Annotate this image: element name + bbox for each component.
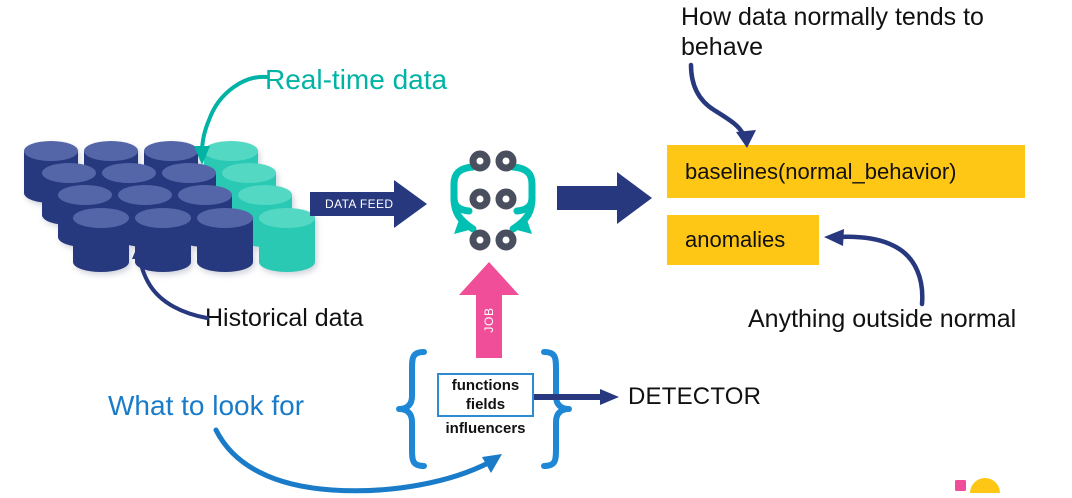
output-box-baselines-label: baselines(normal_behavior): [685, 161, 956, 183]
ml-to-output-arrow: [557, 172, 653, 224]
data-feed-label: DATA FEED: [325, 197, 394, 211]
db-realtime-cylinder-4: [259, 208, 315, 272]
output-box-anomalies[interactable]: anomalies: [667, 215, 819, 265]
what-to-look-for-arrow: [212, 428, 512, 498]
annotation-realtime-data: Real-time data: [265, 64, 447, 96]
anything-outside-normal-arrow: [812, 228, 930, 306]
output-box-baselines[interactable]: baselines(normal_behavior): [667, 145, 1025, 198]
detector-functions-label: functions: [452, 376, 520, 395]
output-box-anomalies-label: anomalies: [685, 229, 785, 251]
detector-fields-label: fields: [466, 395, 505, 414]
diagram-canvas: Real-time data Historical data DATA FEED: [0, 0, 1072, 493]
historical-data-arrow: [115, 238, 210, 326]
job-label: JOB: [482, 293, 496, 347]
machine-learning-nodes-icon: [443, 150, 543, 252]
detector-label: DETECTOR: [628, 383, 761, 411]
annotation-what-to-look-for: What to look for: [108, 390, 304, 422]
how-data-behaves-arrow: [686, 62, 776, 150]
right-curly-brace: [540, 348, 574, 470]
detector-definition-box[interactable]: functions fields: [437, 373, 534, 417]
elastic-logo-partial: [955, 474, 1011, 498]
annotation-anything-outside-normal: Anything outside normal: [748, 304, 1016, 334]
annotation-historical-data: Historical data: [205, 303, 363, 333]
detector-arrow: [534, 389, 620, 405]
annotation-how-data-behaves: How data normally tends to behave: [681, 2, 1071, 62]
realtime-data-arrow: [185, 72, 270, 167]
